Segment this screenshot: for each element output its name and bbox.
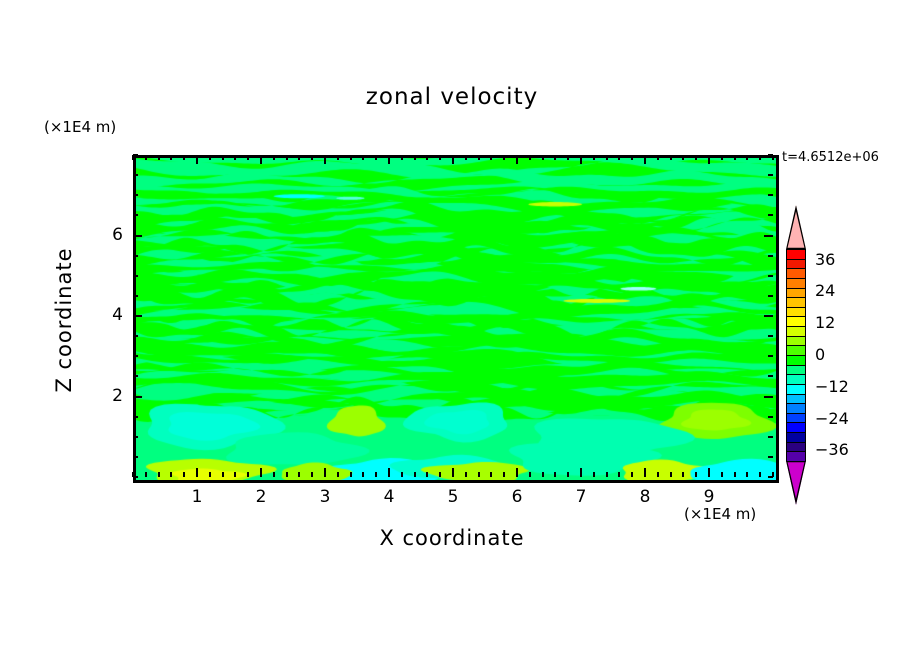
y-tick-major-right xyxy=(764,315,773,317)
colorbar: 3624120−12−24−36 xyxy=(781,205,811,505)
x-tick-minor xyxy=(158,472,160,477)
x-tick-major-top xyxy=(708,155,710,164)
colorbar-label: −24 xyxy=(815,409,849,428)
x-tick-minor-top xyxy=(158,155,160,160)
x-tick-minor-top xyxy=(350,155,352,160)
y-tick-minor-right xyxy=(768,456,773,458)
x-tick-minor xyxy=(631,472,633,477)
colorbar-cap-outline xyxy=(781,205,811,249)
x-tick-minor-top xyxy=(721,155,723,160)
y-tick-major-right xyxy=(764,396,773,398)
x-tick-minor xyxy=(593,472,595,477)
x-tick-minor-top xyxy=(234,155,236,160)
x-tick-minor xyxy=(695,472,697,477)
x-tick-minor-top xyxy=(414,155,416,160)
y-tick-minor xyxy=(133,416,138,418)
y-tick-label: 2 xyxy=(93,386,123,406)
x-tick-minor-top xyxy=(529,155,531,160)
x-tick-major-top xyxy=(516,155,518,164)
x-tick-minor xyxy=(337,472,339,477)
y-tick-minor-right xyxy=(768,416,773,418)
x-tick-major-top xyxy=(324,155,326,164)
y-tick-minor-right xyxy=(768,476,773,478)
x-tick-minor-top xyxy=(286,155,288,160)
x-tick-minor-top xyxy=(567,155,569,160)
x-tick-minor-top xyxy=(439,155,441,160)
x-tick-minor xyxy=(606,472,608,477)
x-tick-label: 7 xyxy=(566,487,596,507)
x-tick-major-top xyxy=(260,155,262,164)
axis-ticks: 123456789246 xyxy=(0,0,904,654)
x-tick-minor xyxy=(209,472,211,477)
y-tick-minor xyxy=(133,335,138,337)
x-tick-minor xyxy=(222,472,224,477)
x-tick-minor xyxy=(414,472,416,477)
x-tick-major xyxy=(644,468,646,477)
x-tick-minor xyxy=(567,472,569,477)
x-tick-minor-top xyxy=(183,155,185,160)
colorbar-label: 0 xyxy=(815,345,825,364)
x-tick-minor xyxy=(721,472,723,477)
x-tick-minor xyxy=(234,472,236,477)
x-tick-minor xyxy=(298,472,300,477)
colorbar-label: 24 xyxy=(815,281,835,300)
x-tick-minor-top xyxy=(593,155,595,160)
colorbar-cap-top xyxy=(781,205,811,249)
x-tick-minor xyxy=(145,472,147,477)
x-tick-minor-top xyxy=(746,155,748,160)
y-tick-minor xyxy=(133,375,138,377)
x-tick-minor-top xyxy=(478,155,480,160)
x-tick-minor xyxy=(657,472,659,477)
colorbar-label: 12 xyxy=(815,313,835,332)
x-tick-minor xyxy=(401,472,403,477)
x-tick-minor-top xyxy=(657,155,659,160)
x-tick-major xyxy=(196,468,198,477)
colorbar-label: −12 xyxy=(815,377,849,396)
x-tick-minor-top xyxy=(375,155,377,160)
x-tick-major xyxy=(324,468,326,477)
y-tick-minor-right xyxy=(768,375,773,377)
x-tick-major xyxy=(708,468,710,477)
x-tick-minor xyxy=(670,472,672,477)
x-tick-minor-top xyxy=(734,155,736,160)
colorbar-cap-outline xyxy=(781,461,811,505)
x-tick-minor-top xyxy=(337,155,339,160)
x-tick-minor xyxy=(618,472,620,477)
y-tick-minor-right xyxy=(768,335,773,337)
x-tick-major xyxy=(516,468,518,477)
x-tick-label: 5 xyxy=(438,487,468,507)
x-tick-label: 6 xyxy=(502,487,532,507)
x-tick-label: 2 xyxy=(246,487,276,507)
x-tick-minor xyxy=(465,472,467,477)
colorbar-cap-bottom xyxy=(781,461,811,505)
x-tick-major-top xyxy=(196,155,198,164)
x-tick-minor-top xyxy=(503,155,505,160)
x-tick-minor xyxy=(170,472,172,477)
x-tick-label: 3 xyxy=(310,487,340,507)
x-tick-minor xyxy=(503,472,505,477)
x-tick-minor-top xyxy=(490,155,492,160)
y-tick-minor-right xyxy=(768,355,773,357)
x-tick-minor-top xyxy=(362,155,364,160)
x-tick-major-top xyxy=(452,155,454,164)
y-tick-minor-right xyxy=(768,295,773,297)
x-tick-minor-top xyxy=(426,155,428,160)
x-tick-minor-top xyxy=(631,155,633,160)
y-tick-label: 4 xyxy=(93,305,123,325)
x-tick-minor xyxy=(554,472,556,477)
x-tick-label: 1 xyxy=(182,487,212,507)
y-tick-minor-right xyxy=(768,154,773,156)
x-tick-minor-top xyxy=(554,155,556,160)
y-tick-minor-right xyxy=(768,194,773,196)
x-tick-minor-top xyxy=(542,155,544,160)
y-tick-minor xyxy=(133,194,138,196)
x-tick-minor-top xyxy=(606,155,608,160)
x-tick-minor-top xyxy=(465,155,467,160)
x-tick-minor xyxy=(478,472,480,477)
y-tick-minor xyxy=(133,295,138,297)
x-tick-minor-top xyxy=(401,155,403,160)
y-tick-minor xyxy=(133,355,138,357)
x-tick-minor-top xyxy=(311,155,313,160)
y-tick-minor xyxy=(133,214,138,216)
y-tick-major xyxy=(133,396,142,398)
y-tick-minor-right xyxy=(768,174,773,176)
x-tick-major xyxy=(260,468,262,477)
x-tick-minor-top xyxy=(618,155,620,160)
x-tick-minor-top xyxy=(298,155,300,160)
x-tick-label: 8 xyxy=(630,487,660,507)
y-tick-minor-right xyxy=(768,255,773,257)
colorbar-band xyxy=(786,451,806,462)
colorbar-label: 36 xyxy=(815,250,835,269)
y-tick-minor xyxy=(133,476,138,478)
x-tick-minor-top xyxy=(247,155,249,160)
x-tick-minor xyxy=(362,472,364,477)
x-tick-minor xyxy=(734,472,736,477)
colorbar-label: −36 xyxy=(815,440,849,459)
x-tick-minor-top xyxy=(682,155,684,160)
x-tick-minor-top xyxy=(170,155,172,160)
x-tick-minor-top xyxy=(145,155,147,160)
x-tick-minor xyxy=(311,472,313,477)
x-tick-minor-top xyxy=(209,155,211,160)
x-tick-minor-top xyxy=(695,155,697,160)
y-tick-minor-right xyxy=(768,436,773,438)
x-tick-minor xyxy=(426,472,428,477)
y-tick-minor xyxy=(133,174,138,176)
x-tick-minor xyxy=(542,472,544,477)
y-tick-minor-right xyxy=(768,275,773,277)
x-tick-minor xyxy=(183,472,185,477)
x-tick-minor xyxy=(286,472,288,477)
x-tick-label: 4 xyxy=(374,487,404,507)
x-tick-minor xyxy=(490,472,492,477)
x-tick-minor xyxy=(375,472,377,477)
x-tick-minor-top xyxy=(670,155,672,160)
x-tick-minor xyxy=(350,472,352,477)
x-tick-minor xyxy=(247,472,249,477)
y-tick-minor-right xyxy=(768,214,773,216)
y-tick-major xyxy=(133,315,142,317)
x-tick-major-top xyxy=(644,155,646,164)
x-tick-minor xyxy=(746,472,748,477)
x-tick-major xyxy=(388,468,390,477)
x-tick-minor xyxy=(529,472,531,477)
x-tick-major xyxy=(580,468,582,477)
y-tick-major xyxy=(133,235,142,237)
x-tick-minor-top xyxy=(222,155,224,160)
y-tick-minor xyxy=(133,436,138,438)
x-tick-minor-top xyxy=(273,155,275,160)
x-tick-minor xyxy=(439,472,441,477)
x-tick-minor xyxy=(273,472,275,477)
x-tick-major xyxy=(452,468,454,477)
x-tick-label: 9 xyxy=(694,487,724,507)
x-tick-major-top xyxy=(580,155,582,164)
y-tick-minor xyxy=(133,255,138,257)
y-tick-minor xyxy=(133,456,138,458)
x-tick-minor-top xyxy=(759,155,761,160)
x-tick-major-top xyxy=(388,155,390,164)
y-tick-major-right xyxy=(764,235,773,237)
x-tick-minor xyxy=(759,472,761,477)
x-tick-minor xyxy=(682,472,684,477)
y-tick-minor xyxy=(133,275,138,277)
y-tick-label: 6 xyxy=(93,225,123,245)
y-tick-minor xyxy=(133,154,138,156)
